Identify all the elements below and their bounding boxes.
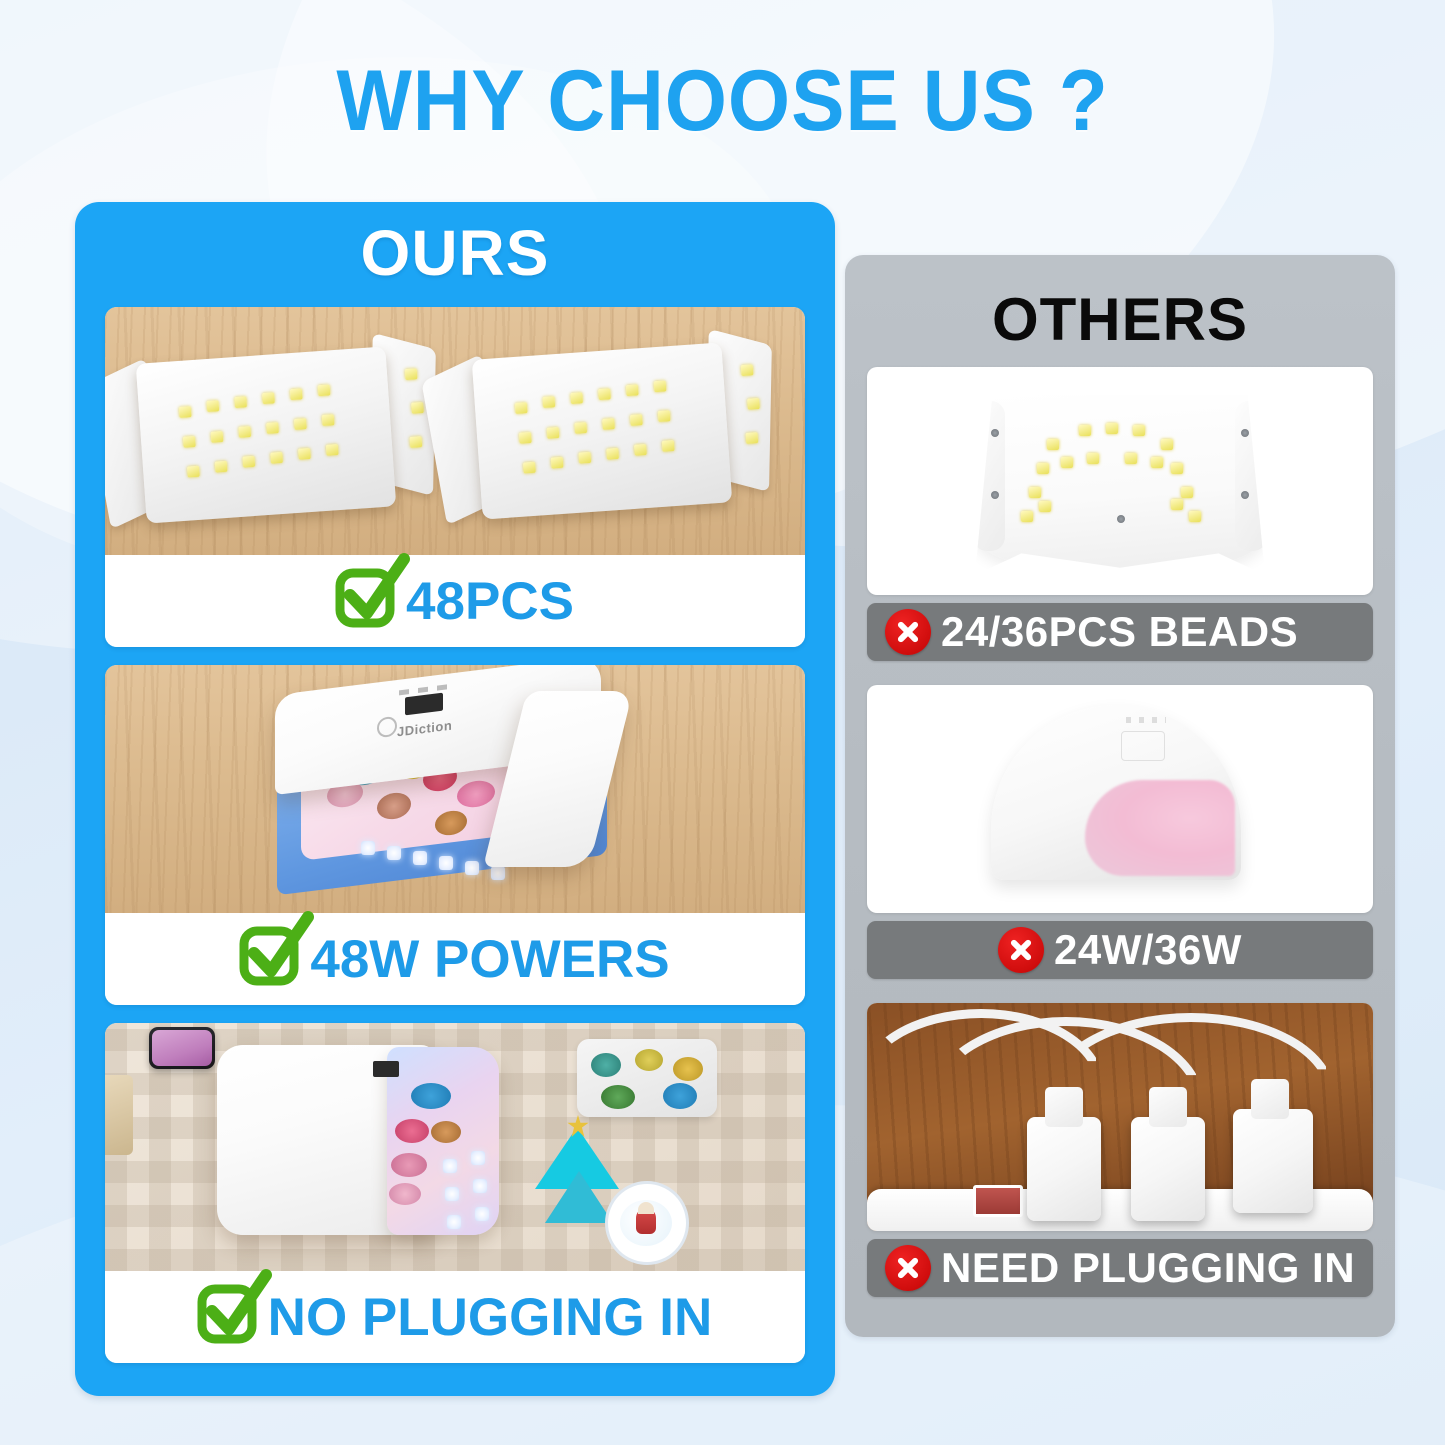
others-caption-1-label: 24/36PCS BEADS	[941, 608, 1298, 656]
others-item-2: 24W/36W	[867, 685, 1373, 979]
others-header: OTHERS	[845, 285, 1395, 354]
cross-icon	[885, 1245, 931, 1291]
cross-icon	[998, 927, 1044, 973]
ours-item-2: JDiction 48W POWERS	[105, 665, 805, 1005]
ours-photo-cordless-lamp	[105, 1023, 805, 1271]
others-caption-3-label: NEED PLUGGING IN	[941, 1244, 1355, 1292]
ours-caption-1: 48PCS	[105, 555, 805, 647]
page-title: WHY CHOOSE US ?	[51, 52, 1395, 151]
ours-panel: OURS	[75, 202, 835, 1396]
cross-icon	[885, 609, 931, 655]
others-photo-led-beads	[867, 367, 1373, 595]
check-icon	[336, 563, 398, 625]
check-icon	[240, 921, 302, 983]
others-photo-power-strip	[867, 1003, 1373, 1231]
others-item-3: NEED PLUGGING IN	[867, 1003, 1373, 1297]
check-icon	[198, 1279, 260, 1341]
ours-header: OURS	[75, 216, 835, 290]
ours-caption-1-label: 48PCS	[406, 571, 574, 632]
others-caption-1: 24/36PCS BEADS	[867, 603, 1373, 661]
ornament-icon	[605, 1181, 689, 1265]
others-caption-2: 24W/36W	[867, 921, 1373, 979]
ours-photo-foldable-panels	[105, 307, 805, 555]
infographic-canvas: WHY CHOOSE US ? OTHERS	[0, 0, 1445, 1445]
ours-item-3: NO PLUGGING IN	[105, 1023, 805, 1363]
others-caption-2-label: 24W/36W	[1054, 926, 1242, 974]
others-caption-3: NEED PLUGGING IN	[867, 1239, 1373, 1297]
others-panel: OTHERS	[845, 255, 1395, 1337]
others-photo-dome-lamp	[867, 685, 1373, 913]
ours-caption-3-label: NO PLUGGING IN	[268, 1287, 713, 1348]
ours-caption-2: 48W POWERS	[105, 913, 805, 1005]
ours-item-1: 48PCS	[105, 307, 805, 647]
others-item-1: 24/36PCS BEADS	[867, 367, 1373, 661]
ours-caption-3: NO PLUGGING IN	[105, 1271, 805, 1363]
ours-photo-lamp-curing-resin: JDiction	[105, 665, 805, 913]
ours-caption-2-label: 48W POWERS	[310, 929, 669, 990]
